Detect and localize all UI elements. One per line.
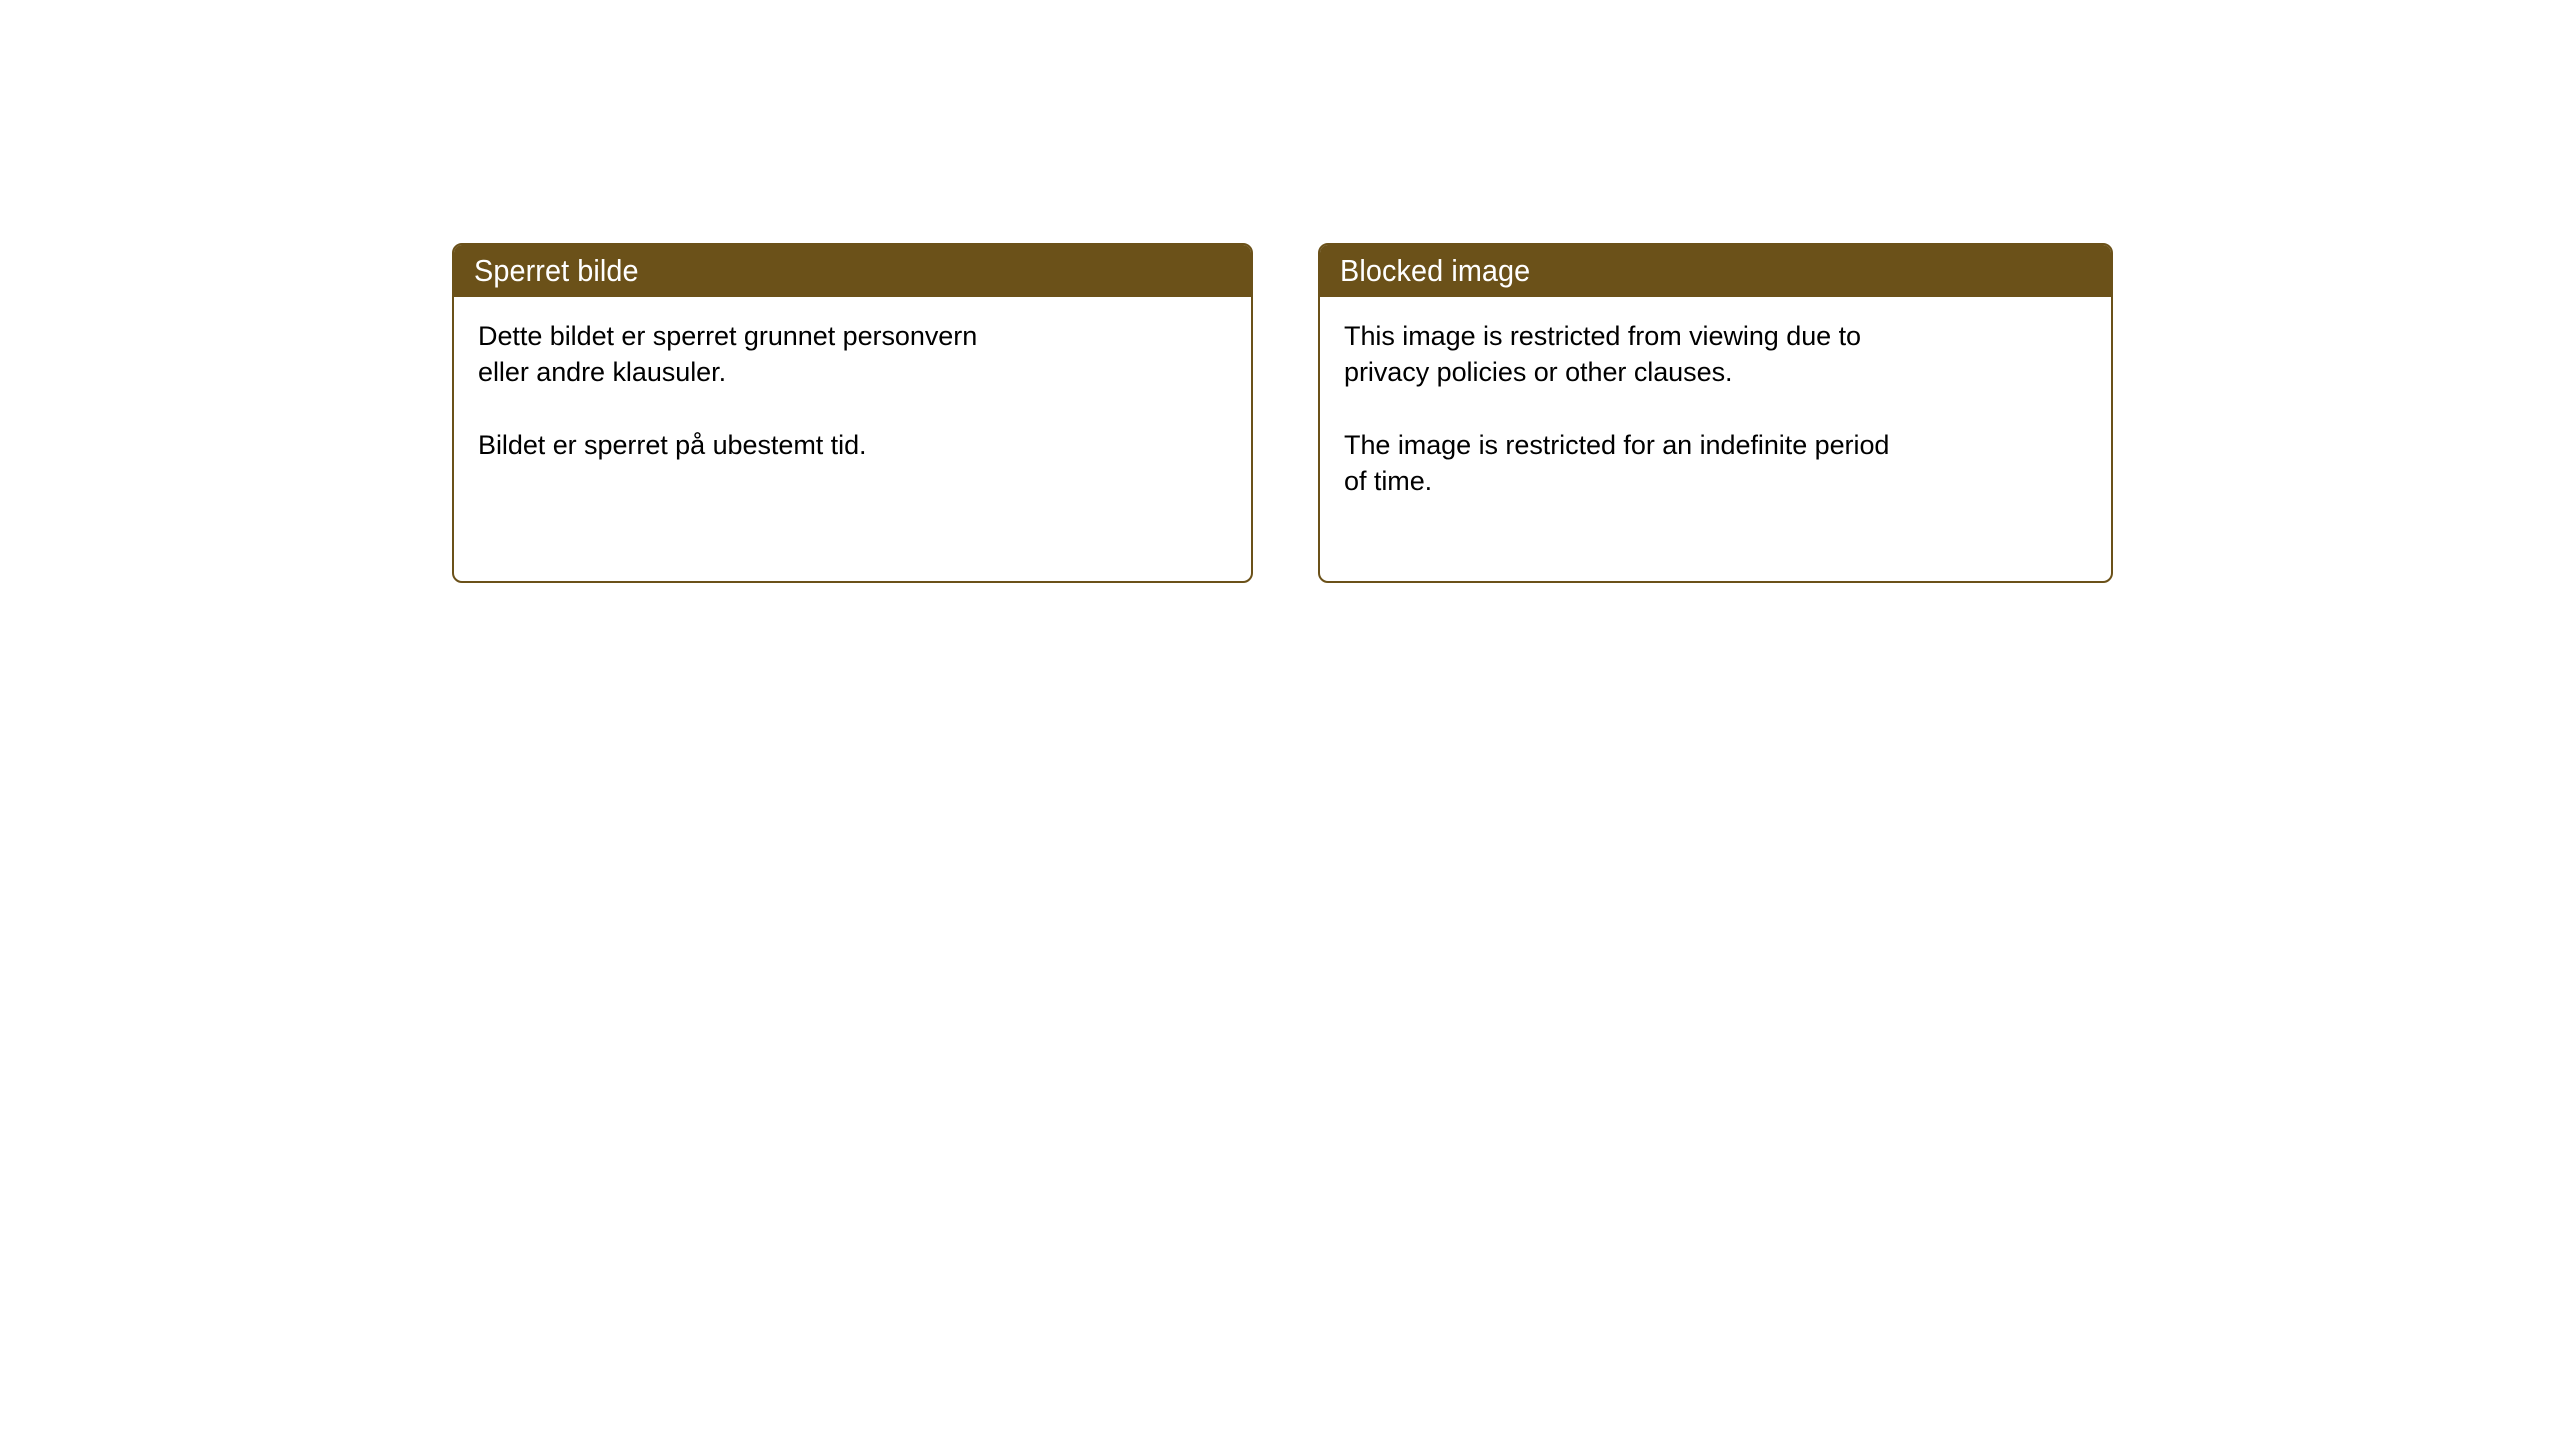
blocked-image-panel-norwegian: Sperret bilde Dette bildet er sperret gr… (452, 243, 1253, 583)
panel-header-norwegian: Sperret bilde (452, 243, 1253, 297)
blocked-image-panel-english: Blocked image This image is restricted f… (1318, 243, 2113, 583)
notice-paragraph-reason-english: This image is restricted from viewing du… (1344, 318, 2087, 391)
notice-line: Bildet er sperret på ubestemt tid. (478, 427, 1227, 463)
notice-line: Dette bildet er sperret grunnet personve… (478, 318, 1227, 354)
panel-header-english: Blocked image (1318, 243, 2113, 297)
blocked-image-notice-group: Sperret bilde Dette bildet er sperret gr… (452, 243, 2113, 583)
panel-title-norwegian: Sperret bilde (474, 255, 639, 286)
panel-title-english: Blocked image (1340, 255, 1530, 286)
notice-paragraph-duration-norwegian: Bildet er sperret på ubestemt tid. (478, 427, 1227, 463)
notice-line: eller andre klausuler. (478, 354, 1227, 390)
panel-body-english: This image is restricted from viewing du… (1320, 297, 2111, 581)
notice-line: of time. (1344, 463, 2087, 499)
notice-paragraph-reason-norwegian: Dette bildet er sperret grunnet personve… (478, 318, 1227, 391)
notice-line: The image is restricted for an indefinit… (1344, 427, 2087, 463)
panel-body-norwegian: Dette bildet er sperret grunnet personve… (454, 297, 1251, 581)
notice-paragraph-duration-english: The image is restricted for an indefinit… (1344, 427, 2087, 500)
notice-line: privacy policies or other clauses. (1344, 354, 2087, 390)
notice-line: This image is restricted from viewing du… (1344, 318, 2087, 354)
